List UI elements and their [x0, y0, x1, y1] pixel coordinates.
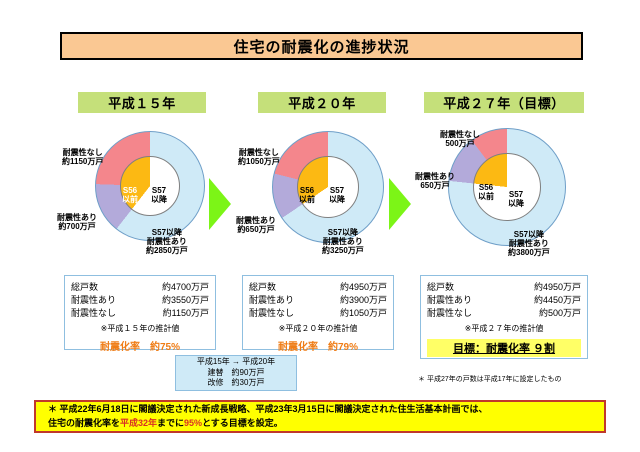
label-has-resistance-3: 耐震性あり 650万戸	[415, 172, 455, 190]
label-s57-resistance-1: S57以降 耐震性あり 約2850万戸	[146, 228, 188, 256]
stat-key: 総戸数	[249, 281, 276, 294]
column-header-label: 平成２７年（目標）	[443, 93, 565, 112]
stat-key: 耐震性なし	[249, 307, 294, 320]
stat-row: 耐震性なし 約500万戸	[427, 307, 581, 320]
stat-key: 総戸数	[427, 281, 454, 294]
stat-key: 耐震性あり	[249, 294, 294, 307]
policy-line2-suffix: とする目標を設定。	[202, 418, 283, 428]
stats-note: ※平成２７年の推計値	[427, 323, 581, 334]
stat-value: 約4700万戸	[162, 281, 209, 294]
stat-row: 総戸数 約4950万戸	[427, 281, 581, 294]
stat-row: 総戸数 約4700万戸	[71, 281, 209, 294]
goal-heisei27: 目標：耐震化率 ９割	[427, 339, 581, 357]
stat-value: 約3550万戸	[162, 294, 209, 307]
policy-target-pct: 95%	[184, 418, 202, 428]
label-no-resistance-1: 耐震性なし 約1150万戸	[62, 148, 103, 166]
progress-arrow-2	[389, 178, 411, 230]
label-s56-inner-3: S56 以前	[478, 183, 494, 201]
policy-banner-line2: 住宅の耐震化率を平成32年までに95%とする目標を設定。	[48, 417, 604, 430]
stat-key: 耐震性あり	[427, 294, 472, 307]
label-has-resistance-1: 耐震性あり 約700万戸	[57, 213, 97, 231]
policy-banner: ＊ 平成22年6月18日に閣議決定された新成長戦略、平成23年3月15日に閣議決…	[34, 400, 606, 433]
stat-value: 約3900万戸	[340, 294, 387, 307]
stat-value: 約4950万戸	[534, 281, 581, 294]
label-s56-inner-1: S56 以前	[122, 186, 138, 204]
label-s57-resistance-3: S57以降 耐震性あり 約3800万戸	[508, 230, 550, 258]
stats-note: ※平成２０年の推計値	[249, 323, 387, 334]
stat-row: 耐震性あり 約3900万戸	[249, 294, 387, 307]
column-header-heisei27: 平成２７年（目標）	[424, 92, 584, 113]
progress-arrow-1	[209, 178, 231, 230]
label-s57-inner-3: S57 以降	[508, 190, 524, 208]
transition-box: 平成15年 → 平成20年 建替 約90万戸 改修 約30万戸	[175, 355, 297, 391]
stats-box-heisei20: 総戸数 約4950万戸 耐震性あり 約3900万戸 耐震性なし 約1050万戸 …	[242, 275, 394, 350]
infographic-page: 住宅の耐震化の進捗状況 平成１５年 平成２０年 平成２７年（目標） 耐震性なし …	[0, 0, 640, 452]
stat-value: 約1150万戸	[163, 307, 209, 320]
stats-box-heisei27: 総戸数 約4950万戸 耐震性あり 約4450万戸 耐震性なし 約500万戸 ※…	[420, 275, 588, 359]
stat-row: 耐震性なし 約1050万戸	[249, 307, 387, 320]
resistance-rate-heisei15: 耐震化率 約75%	[71, 338, 209, 353]
stats-box-heisei15: 総戸数 約4700万戸 耐震性あり 約3550万戸 耐震性なし 約1150万戸 …	[64, 275, 216, 350]
stats-note: ※平成１５年の推計値	[71, 323, 209, 334]
page-title: 住宅の耐震化の進捗状況	[233, 36, 409, 57]
stat-row: 耐震性あり 約3550万戸	[71, 294, 209, 307]
label-has-resistance-2: 耐震性あり 約650万戸	[236, 216, 276, 234]
stat-row: 耐震性なし 約1150万戸	[71, 307, 209, 320]
policy-target-year: 平成32年	[120, 418, 157, 428]
transition-rebuild: 建替 約90万戸	[208, 368, 265, 378]
label-s57-inner-2: S57 以降	[329, 186, 345, 204]
policy-line2-prefix: 住宅の耐震化率を	[48, 418, 120, 428]
stat-value: 約500万戸	[539, 307, 581, 320]
column-header-label: 平成１５年	[108, 93, 176, 112]
column-header-label: 平成２０年	[288, 93, 356, 112]
policy-banner-line1-text: ＊ 平成22年6月18日に閣議決定された新成長戦略、平成23年3月15日に閣議決…	[48, 404, 488, 414]
label-s57-inner-1: S57 以降	[151, 186, 167, 204]
stat-key: 総戸数	[71, 281, 98, 294]
stat-value: 約4950万戸	[340, 281, 387, 294]
resistance-rate-heisei20: 耐震化率 約79%	[249, 338, 387, 353]
column-header-heisei20: 平成２０年	[258, 92, 386, 113]
stat-key: 耐震性あり	[71, 294, 116, 307]
stat-value: 約4450万戸	[534, 294, 581, 307]
transition-renovation: 改修 約30万戸	[208, 378, 265, 388]
policy-banner-line1: ＊ 平成22年6月18日に閣議決定された新成長戦略、平成23年3月15日に閣議決…	[48, 403, 604, 416]
transition-period: 平成15年 → 平成20年	[197, 357, 275, 367]
column-header-heisei15: 平成１５年	[78, 92, 206, 113]
stat-value: 約1050万戸	[340, 307, 387, 320]
label-no-resistance-3: 耐震性なし 500万戸	[440, 130, 480, 148]
label-no-resistance-2: 耐震性なし 約1050万戸	[238, 148, 280, 166]
footnote: ＊ 平成27年の戸数は平成17年に設定したもの	[418, 374, 628, 384]
stat-key: 耐震性なし	[427, 307, 472, 320]
stat-row: 総戸数 約4950万戸	[249, 281, 387, 294]
page-title-bar: 住宅の耐震化の進捗状況	[60, 32, 583, 60]
stat-key: 耐震性なし	[71, 307, 116, 320]
policy-line2-mid: までに	[157, 418, 184, 428]
label-s56-inner-2: S56 以前	[299, 186, 315, 204]
label-s57-resistance-2: S57以降 耐震性あり 約3250万戸	[322, 228, 364, 256]
stat-row: 耐震性あり 約4450万戸	[427, 294, 581, 307]
